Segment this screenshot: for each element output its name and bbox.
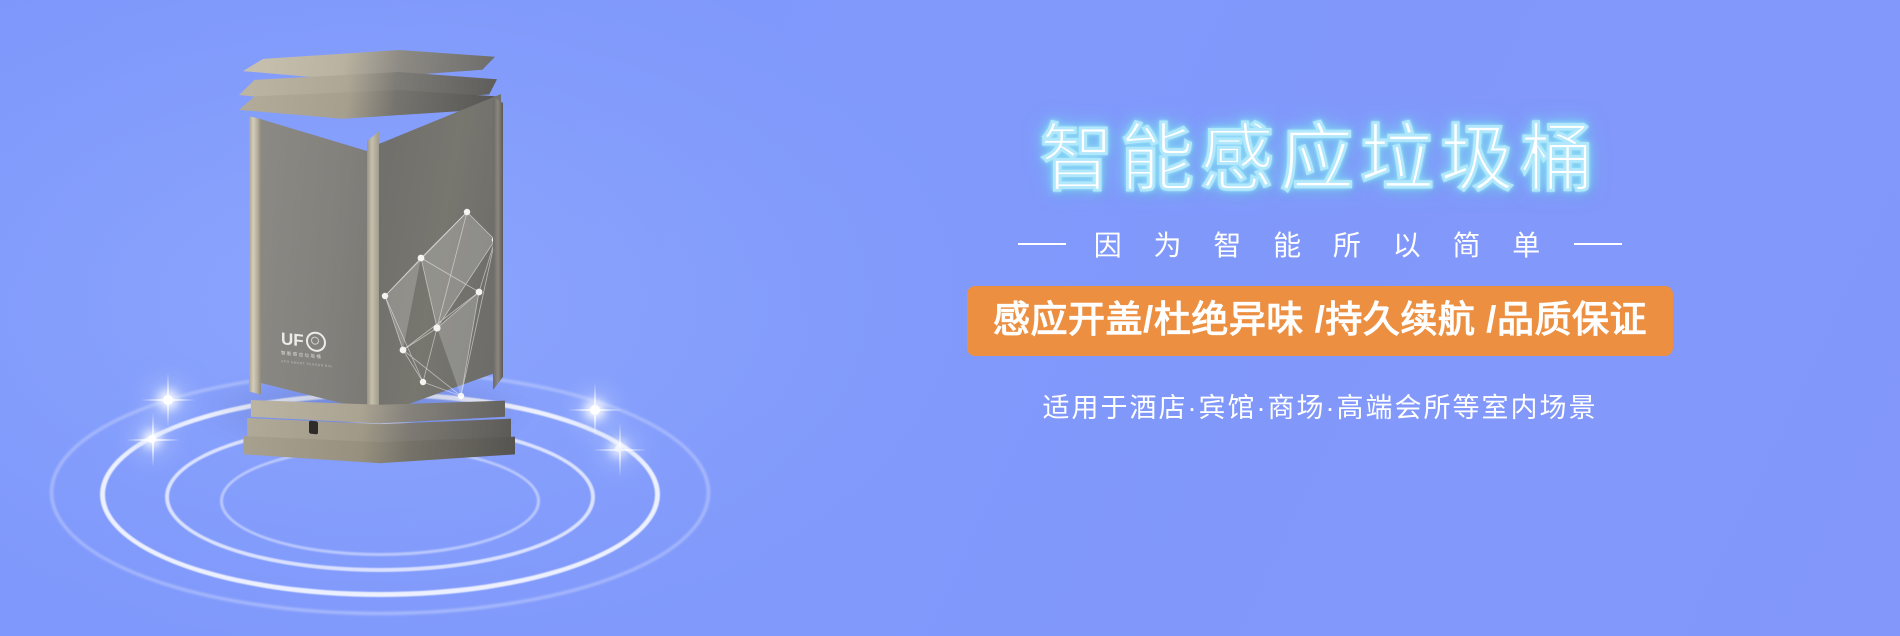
sparkle-icon-left-2 bbox=[148, 435, 156, 443]
product-stage: UF 智能感应垃圾桶 UFO SMART SENSOR BIN bbox=[60, 20, 700, 620]
feature-badge: 感应开盖/杜绝异味 /持久续航 /品质保证 bbox=[967, 286, 1673, 355]
feature-badge-wrap: 感应开盖/杜绝异味 /持久续航 /品质保证 bbox=[880, 286, 1760, 355]
logo-wordmark: UF bbox=[281, 330, 304, 349]
smart-trash-bin-image: UF 智能感应垃圾桶 UFO SMART SENSOR BIN bbox=[235, 50, 515, 450]
sparkle-icon-right-2 bbox=[615, 445, 622, 452]
ufo-brand-logo: UF 智能感应垃圾桶 UFO SMART SENSOR BIN bbox=[281, 328, 355, 372]
sparkle-icon-right-1 bbox=[590, 405, 600, 415]
bin-corner-pillar-center bbox=[367, 96, 379, 418]
rule-right-icon bbox=[1574, 243, 1622, 245]
marketing-copy-block: 智能感应垃圾桶 因 为 智 能 所 以 简 单 感应开盖/杜绝异味 /持久续航 … bbox=[880, 120, 1760, 425]
sparkle-icon-left-1 bbox=[163, 395, 173, 405]
ufo-ring-icon bbox=[306, 331, 326, 353]
bin-corner-pillar-left bbox=[249, 110, 261, 416]
rule-left-icon bbox=[1018, 243, 1066, 245]
bin-side-face bbox=[375, 94, 501, 416]
bin-base-vent-slot bbox=[309, 420, 318, 434]
banner-headline: 智能感应垃圾桶 bbox=[880, 120, 1760, 198]
banner-subline: 因 为 智 能 所 以 简 单 bbox=[880, 224, 1760, 264]
subline-text: 因 为 智 能 所 以 简 单 bbox=[1088, 224, 1552, 264]
product-banner: UF 智能感应垃圾桶 UFO SMART SENSOR BIN 智能感应垃圾桶 … bbox=[0, 0, 1900, 636]
bin-corner-pillar-right bbox=[493, 90, 503, 416]
usage-scene-note: 适用于酒店·宾馆·商场·高端会所等室内场景 bbox=[880, 386, 1760, 425]
